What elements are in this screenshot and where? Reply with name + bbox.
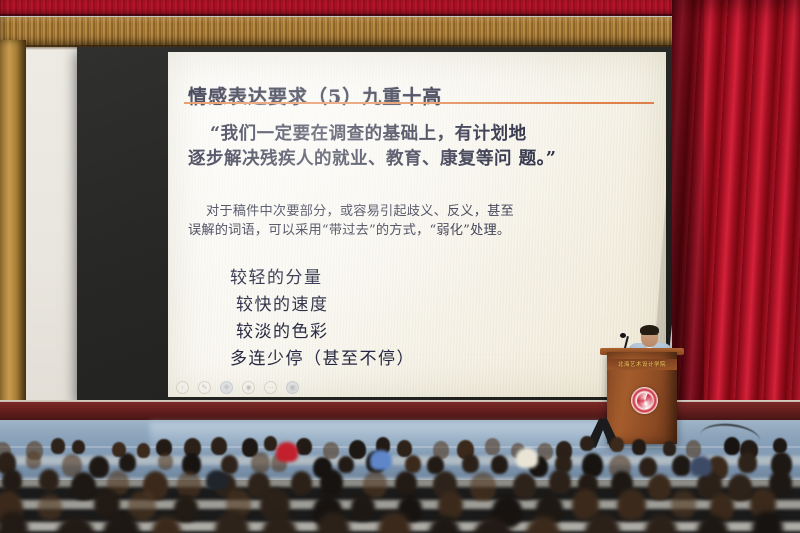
audience-head bbox=[671, 490, 696, 518]
audience-head bbox=[0, 511, 28, 533]
audience-head bbox=[724, 437, 740, 455]
audience-head bbox=[549, 469, 571, 494]
previous-slide-button[interactable]: ‹ bbox=[176, 381, 189, 394]
audience-head-with-cap bbox=[370, 450, 392, 470]
audience-head bbox=[320, 469, 343, 495]
audience-area bbox=[0, 430, 800, 533]
zoom-button[interactable]: ◉ bbox=[242, 381, 255, 394]
audience-head bbox=[211, 437, 227, 455]
presenter-control-bar[interactable]: ‹ ✎ ✥ ◉ ⋯ ▣ bbox=[168, 380, 476, 395]
list-item: 较快的速度 bbox=[230, 292, 666, 319]
more-options-button[interactable]: ⋯ bbox=[264, 381, 277, 394]
audience-head bbox=[72, 440, 85, 454]
slide-quote-line-1: “我们一定要在调查的基础上，有计划地 bbox=[188, 122, 650, 147]
speaker-hair bbox=[640, 325, 659, 335]
emblem-spiral-core bbox=[637, 393, 653, 409]
presenter-view-button[interactable]: ▣ bbox=[286, 381, 299, 394]
audience-head bbox=[56, 516, 96, 533]
lecture-hall-scene: 情感表达要求（5）九重十高 “我们一定要在调查的基础上，有计划地 逐步解决残疾人… bbox=[0, 0, 800, 533]
slide-note-line-2: 误解的词语，可以采用“带过去”的方式，“弱化”处理。 bbox=[188, 223, 510, 238]
audience-head bbox=[752, 511, 783, 533]
audience-head-with-cap bbox=[690, 456, 712, 476]
audience-head bbox=[26, 451, 42, 468]
audience-head bbox=[338, 456, 354, 473]
pen-tool-button[interactable]: ✎ bbox=[198, 381, 211, 394]
audience-head bbox=[251, 452, 270, 473]
audience-head bbox=[39, 469, 59, 491]
audience-head bbox=[51, 438, 65, 454]
audience-head bbox=[291, 471, 313, 495]
lectern-sign-text: 北海艺术设计学院 bbox=[607, 360, 677, 370]
audience-head bbox=[645, 514, 677, 533]
audience-head bbox=[395, 471, 417, 496]
audience-head bbox=[648, 474, 671, 500]
audience-head bbox=[119, 453, 136, 472]
slide-title: 情感表达要求（5）九重十高 bbox=[188, 82, 648, 109]
slide-quote-block: “我们一定要在调查的基础上，有计划地 逐步解决残疾人的就业、教育、康复等问 题。… bbox=[188, 122, 650, 172]
list-item: 较轻的分量 bbox=[230, 265, 666, 292]
audience-head-with-cap bbox=[516, 448, 538, 468]
presentation-slide[interactable]: 情感表达要求（5）九重十高 “我们一定要在调查的基础上，有计划地 逐步解决残疾人… bbox=[168, 52, 666, 397]
audience-head bbox=[462, 454, 479, 473]
audience-head bbox=[728, 474, 752, 501]
audience-head bbox=[2, 469, 22, 492]
audience-head bbox=[632, 439, 646, 455]
audience-head-with-cap bbox=[276, 442, 298, 462]
audience-head bbox=[672, 455, 691, 476]
stage-apron-base bbox=[0, 402, 800, 422]
audience-head bbox=[438, 491, 463, 519]
audience-head bbox=[513, 473, 536, 499]
audience-head bbox=[71, 472, 96, 500]
audience-head bbox=[485, 438, 500, 454]
audience-head bbox=[158, 453, 174, 470]
audience-head bbox=[738, 452, 757, 473]
slide-note-block: 对于稿件中次要部分，或容易引起歧义、反义，甚至 误解的词语，可以采用“带过去”的… bbox=[188, 202, 654, 240]
slide-note-line-1: 对于稿件中次要部分，或容易引起歧义、反义，甚至 bbox=[188, 202, 654, 221]
slide-navigator-button[interactable]: ✥ bbox=[220, 381, 233, 394]
audience-head bbox=[773, 438, 787, 454]
audience-head bbox=[351, 494, 375, 521]
slide-quote-line-3: 题。” bbox=[519, 149, 557, 169]
audience-head bbox=[177, 471, 201, 498]
audience-head bbox=[349, 440, 366, 459]
audience-head bbox=[38, 494, 61, 520]
slide-quote-line-2: 逐步解决残疾人的就业、教育、康复等问 bbox=[188, 149, 512, 169]
slide-bullet-list: 较轻的分量 较快的速度 较淡的色彩 多连少停（甚至不停） bbox=[190, 265, 666, 373]
audience-head-with-cap bbox=[206, 470, 228, 490]
audience-head bbox=[580, 436, 593, 451]
left-wood-pillar bbox=[0, 40, 26, 420]
title-underline-rule bbox=[184, 102, 654, 104]
audience-head bbox=[429, 516, 460, 533]
audience-head bbox=[174, 495, 198, 522]
spiral-seal-emblem bbox=[631, 387, 658, 414]
audience-head bbox=[663, 441, 676, 456]
audience-head bbox=[470, 472, 496, 501]
audience-head bbox=[137, 443, 150, 458]
audience-head bbox=[491, 455, 508, 474]
audience-head bbox=[296, 438, 312, 456]
audience-head bbox=[610, 437, 624, 453]
list-item: 较淡的色彩 bbox=[230, 319, 666, 346]
microphone-head bbox=[620, 333, 626, 338]
audience-head bbox=[617, 489, 645, 521]
audience-head bbox=[323, 442, 339, 459]
